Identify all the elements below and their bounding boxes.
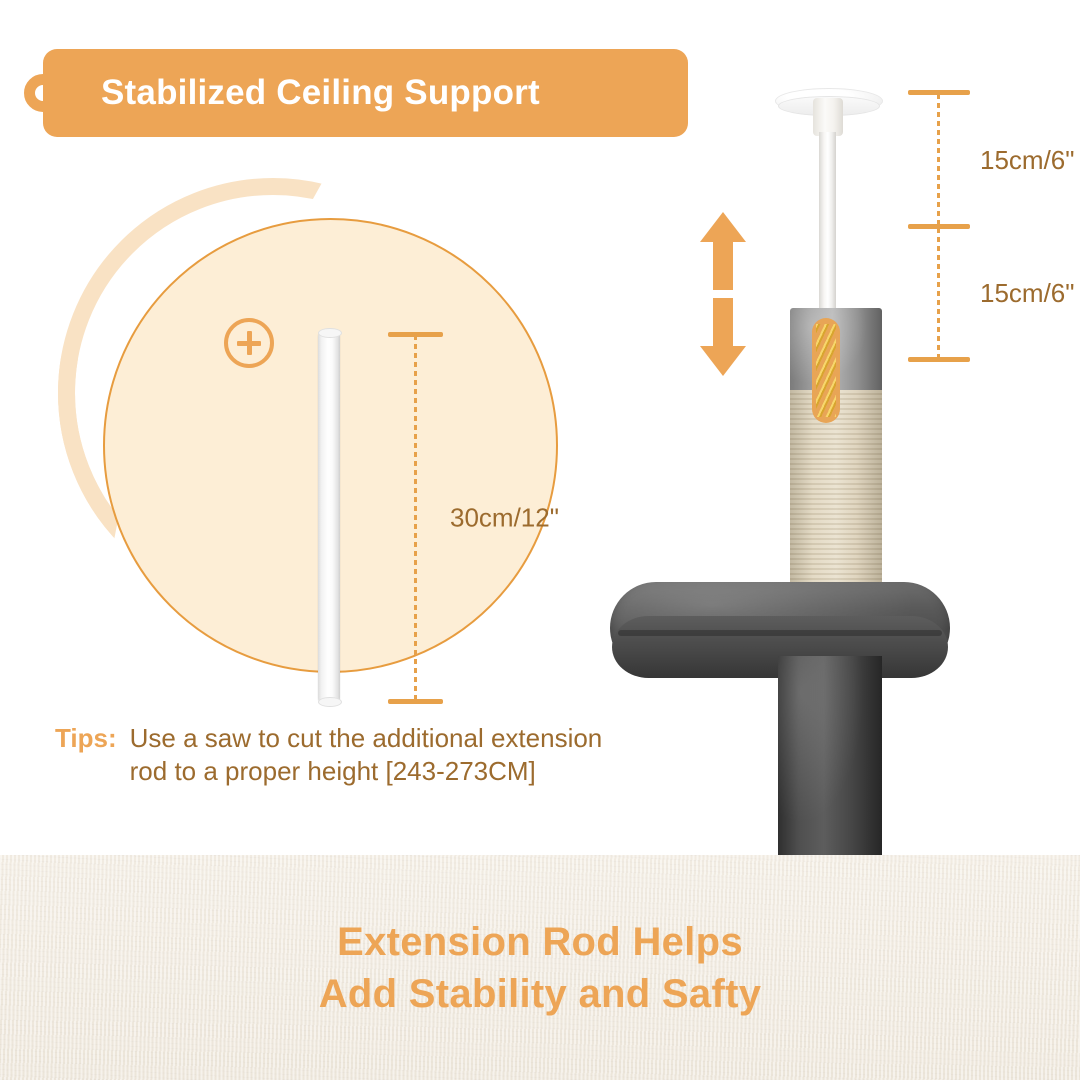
scale-dotted-2 (937, 228, 940, 358)
arrow-down-icon (700, 298, 746, 376)
magnifier-panel: 30cm/12" (58, 178, 618, 738)
post-lower-section (778, 656, 882, 860)
dimension-tick-bottom (388, 699, 443, 704)
dimension-30cm: 30cm/12" (388, 332, 548, 704)
ceiling-collar (813, 98, 843, 136)
arrow-up-head (700, 212, 746, 242)
spring-coil-icon (816, 324, 836, 417)
banner-line-2: Add Stability and Safty (319, 968, 762, 1020)
dimension-scale: 15cm/6" 15cm/6" (908, 90, 1078, 362)
scale-label-1: 15cm/6" (980, 145, 1075, 176)
magnifier-circle: 30cm/12" (103, 218, 558, 673)
banner-line-1: Extension Rod Helps (337, 916, 743, 968)
telescoping-rod (819, 132, 836, 322)
perch-seam (618, 630, 942, 636)
header-badge: Stabilized Ceiling Support (43, 49, 688, 137)
tips-text: Use a saw to cut the additional extensio… (130, 722, 603, 788)
arrow-down-shaft (713, 298, 733, 348)
scale-tick-bottom (908, 357, 970, 362)
arrow-up-shaft (713, 240, 733, 290)
infographic-stage: Stabilized Ceiling Support 30cm/12" Tips… (0, 0, 1080, 1080)
scale-dotted-1 (937, 94, 940, 226)
arrow-down-head (700, 346, 746, 376)
plus-circle-icon (224, 318, 274, 368)
arrow-up-icon (700, 212, 746, 290)
dimension-dotted-line (414, 335, 417, 701)
page-title: Stabilized Ceiling Support (101, 73, 540, 113)
bottom-banner: Extension Rod Helps Add Stability and Sa… (0, 855, 1080, 1080)
scale-label-2: 15cm/6" (980, 278, 1075, 309)
tips-line-1: Use a saw to cut the additional extensio… (130, 723, 603, 753)
tips-block: Tips: Use a saw to cut the additional ex… (55, 722, 602, 788)
spring-badge (812, 318, 840, 423)
extension-rod-image (318, 330, 340, 705)
dimension-label-30cm: 30cm/12" (450, 503, 559, 534)
tips-line-2: rod to a proper height [243-273CM] (130, 756, 536, 786)
tips-label: Tips: (55, 722, 117, 788)
